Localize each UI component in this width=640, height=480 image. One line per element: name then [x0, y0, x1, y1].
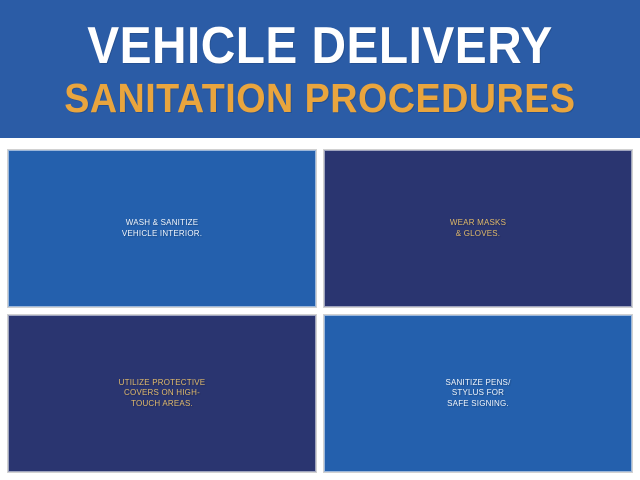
panel-text-line: VEHICLE INTERIOR. [18, 229, 306, 239]
panel-text: SANITIZE PENS/ STYLUS FOR SAFE SIGNING. [334, 378, 622, 409]
panel-text-line: SANITIZE PENS/ [334, 378, 622, 388]
panel-text-line: COVERS ON HIGH- [18, 388, 306, 398]
panel-text-line: WEAR MASKS [334, 218, 622, 228]
panel-text: UTILIZE PROTECTIVE COVERS ON HIGH- TOUCH… [18, 378, 306, 409]
poster: VEHICLE DELIVERY SANITATION PROCEDURES W… [0, 0, 640, 480]
panel-text-line: SAFE SIGNING. [334, 399, 622, 409]
panel-text-line: UTILIZE PROTECTIVE [18, 378, 306, 388]
panel-utilize-protective-covers: UTILIZE PROTECTIVE COVERS ON HIGH- TOUCH… [8, 315, 316, 472]
poster-header: VEHICLE DELIVERY SANITATION PROCEDURES [0, 0, 640, 138]
panel-sanitize-pens-stylus: SANITIZE PENS/ STYLUS FOR SAFE SIGNING. [324, 315, 632, 472]
poster-title-line2: SANITATION PROCEDURES [64, 78, 575, 119]
panel-text-line: STYLUS FOR [334, 388, 622, 398]
panel-wear-masks-and-gloves: WEAR MASKS & GLOVES. [324, 150, 632, 307]
panel-text: WASH & SANITIZE VEHICLE INTERIOR. [18, 218, 306, 238]
panel-text-line: TOUCH AREAS. [18, 399, 306, 409]
procedure-panel-grid: WASH & SANITIZE VEHICLE INTERIOR. WEAR M… [8, 150, 632, 472]
panel-text: WEAR MASKS & GLOVES. [334, 218, 622, 238]
panel-text-line: WASH & SANITIZE [18, 218, 306, 228]
panel-wash-sanitize-vehicle-interior: WASH & SANITIZE VEHICLE INTERIOR. [8, 150, 316, 307]
poster-title-line1: VEHICLE DELIVERY [87, 20, 552, 72]
panel-text-line: & GLOVES. [334, 229, 622, 239]
